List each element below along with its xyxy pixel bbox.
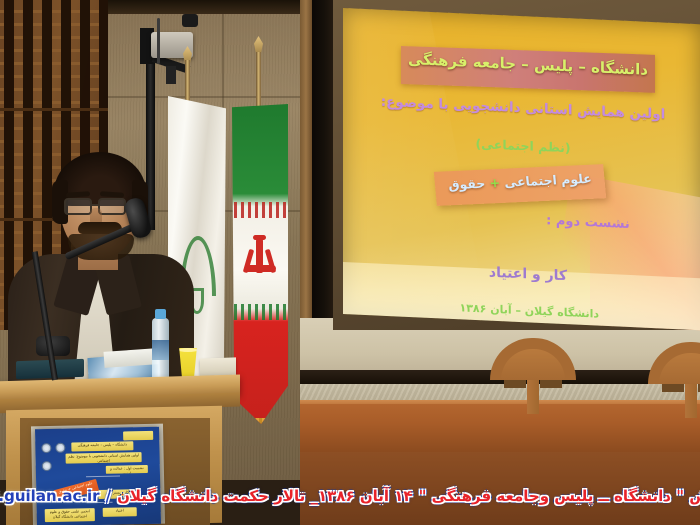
wooden-arched-chair [490, 338, 576, 410]
slide-topic: (نظم اجتماعی) [373, 131, 673, 160]
floor [300, 452, 700, 525]
eyeglasses-lens-left [64, 198, 92, 215]
photo-canvas: دانشگاه – پلیس – جامعه فرهنگی اولین همای… [0, 0, 700, 525]
water-bottle [152, 318, 169, 382]
iran-national-flag [232, 104, 288, 424]
projection-screen: دانشگاه – پلیس – جامعه فرهنگی اولین همای… [343, 8, 700, 330]
wall-seam [108, 96, 308, 98]
poster-box-item: کار و بستر ظلم [98, 489, 136, 499]
slide-subtitle: اولین همایش استانی دانشجویی با موضوع: [373, 93, 673, 123]
bottle-label [152, 340, 169, 360]
conference-poster-board: دانشگاه – پلیس – جامعه فرهنگی اولین همای… [35, 427, 161, 525]
flagpole [256, 52, 261, 110]
poster-box-item: علوم اجتماعی + حقوق [53, 479, 99, 502]
eyeglasses-lens-right [98, 198, 126, 215]
flag-kufic-band-bottom [234, 304, 286, 320]
wooden-arched-chair [648, 342, 700, 414]
projector-clamp [166, 66, 176, 84]
poster-corner-box [123, 431, 153, 441]
eyeglasses-bridge [92, 204, 100, 206]
poster-header: دانشگاه – پلیس – جامعه فرهنگی [71, 441, 133, 451]
security-camera [182, 14, 198, 27]
poster-box-item: انجمن علمی حقوق و علوم اجتماعی دانشگاه گ… [45, 508, 95, 522]
wooden-post [300, 0, 312, 332]
poster-box-item: اعتیاد [103, 507, 137, 517]
highlight-plus-sign: + [489, 175, 501, 190]
doorway-shadow [311, 0, 333, 330]
flag-kufic-band-top [234, 202, 286, 218]
poster-seal [55, 443, 65, 453]
poster-subheader: اولین همایش استانی دانشجویی با موضوع: نظ… [66, 452, 142, 464]
poster-box-item: نشست اول : عدالت و امنیت [106, 465, 148, 474]
poster-seal [42, 461, 52, 471]
highlight-right-text: حقوق [448, 176, 486, 193]
conference-table [300, 404, 700, 454]
poster-seal [41, 443, 51, 453]
projector-cable [157, 18, 160, 64]
bottle-cap [155, 309, 166, 319]
flag-allah-emblem [243, 239, 277, 281]
